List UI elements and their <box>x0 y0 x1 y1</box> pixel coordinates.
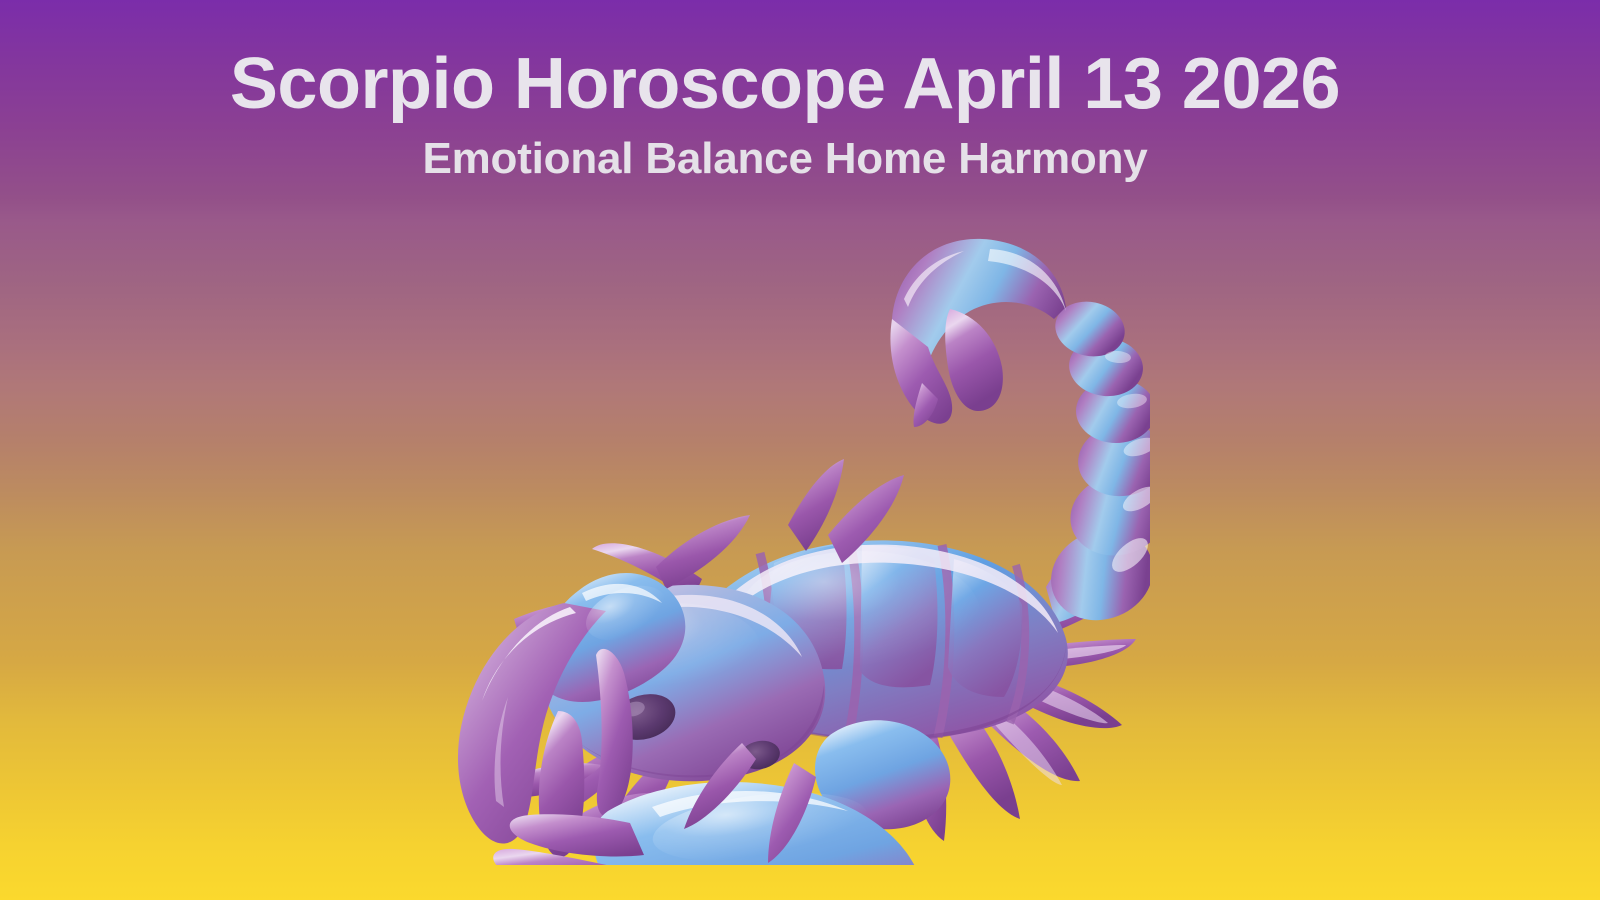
horoscope-banner: Scorpio Horoscope April 13 2026 Emotiona… <box>0 0 1600 900</box>
stinger-shape <box>945 309 1003 411</box>
scorpion-illustration <box>430 215 1150 865</box>
